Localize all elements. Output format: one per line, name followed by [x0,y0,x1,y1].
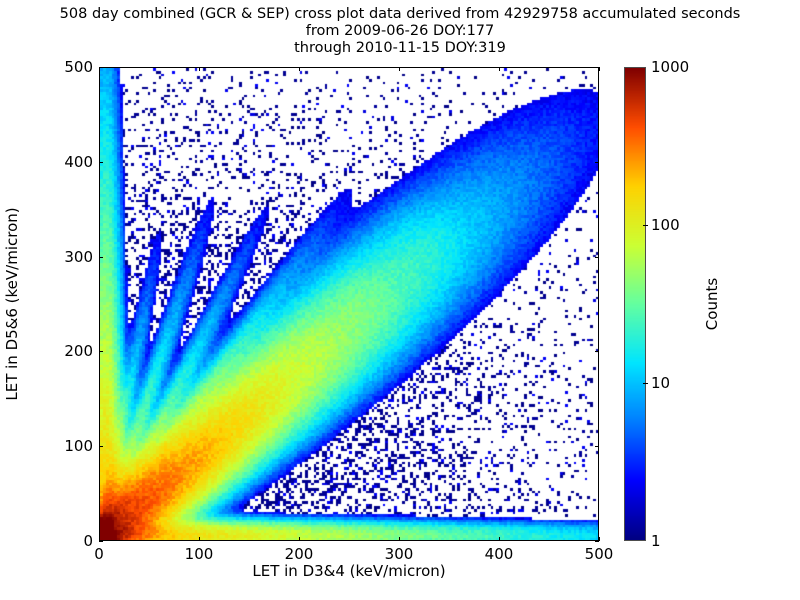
chart-title-line-1: 508 day combined (GCR & SEP) cross plot … [0,6,800,23]
x-tick-mark [299,537,300,541]
colorbar [624,67,646,541]
colorbar-gradient [625,68,645,540]
y-tick-label: 200 [33,342,93,360]
x-tick-mark-top [299,67,300,71]
y-tick-mark-right [595,351,599,352]
y-tick-mark [99,67,103,68]
colorbar-label-wrap: Counts [700,67,724,541]
y-tick-mark-right [595,162,599,163]
y-tick-label: 500 [33,58,93,76]
y-tick-mark-right [595,257,599,258]
colorbar-tick-mark [643,225,648,226]
y-tick-label: 400 [33,153,93,171]
y-tick-label: 100 [33,437,93,455]
plot-axes [99,67,599,541]
x-tick-mark-top [599,67,600,71]
y-tick-mark [99,257,103,258]
x-tick-label: 100 [169,545,229,563]
chart-title-line-2: from 2009-06-26 DOY:177 [0,23,800,40]
x-tick-mark [599,537,600,541]
x-axis-label: LET in D3&4 (keV/micron) [99,562,599,580]
x-tick-mark-top [499,67,500,71]
x-tick-mark [199,537,200,541]
y-tick-mark-right [595,446,599,447]
x-tick-mark [399,537,400,541]
y-tick-label: 300 [33,248,93,266]
y-tick-label: 0 [33,532,93,550]
x-tick-label: 400 [469,545,529,563]
y-tick-mark [99,162,103,163]
x-tick-label: 500 [569,545,629,563]
x-tick-label: 200 [269,545,329,563]
y-tick-mark [99,446,103,447]
y-tick-mark-right [595,67,599,68]
x-tick-mark-top [199,67,200,71]
y-axis-label-wrap: LET in D5&6 (keV/micron) [0,67,24,541]
heatmap-canvas [100,68,598,540]
y-tick-mark [99,351,103,352]
y-axis-label: LET in D5&6 (keV/micron) [3,207,21,400]
x-tick-label: 300 [369,545,429,563]
x-tick-mark-top [399,67,400,71]
colorbar-label: Counts [703,278,721,330]
x-tick-mark [499,537,500,541]
colorbar-tick-mark [643,383,648,384]
y-tick-mark [99,541,103,542]
chart-title-line-3: through 2010-11-15 DOY:319 [0,40,800,57]
figure-canvas: 508 day combined (GCR & SEP) cross plot … [0,0,800,600]
chart-title: 508 day combined (GCR & SEP) cross plot … [0,6,800,57]
y-tick-mark-right [595,541,599,542]
